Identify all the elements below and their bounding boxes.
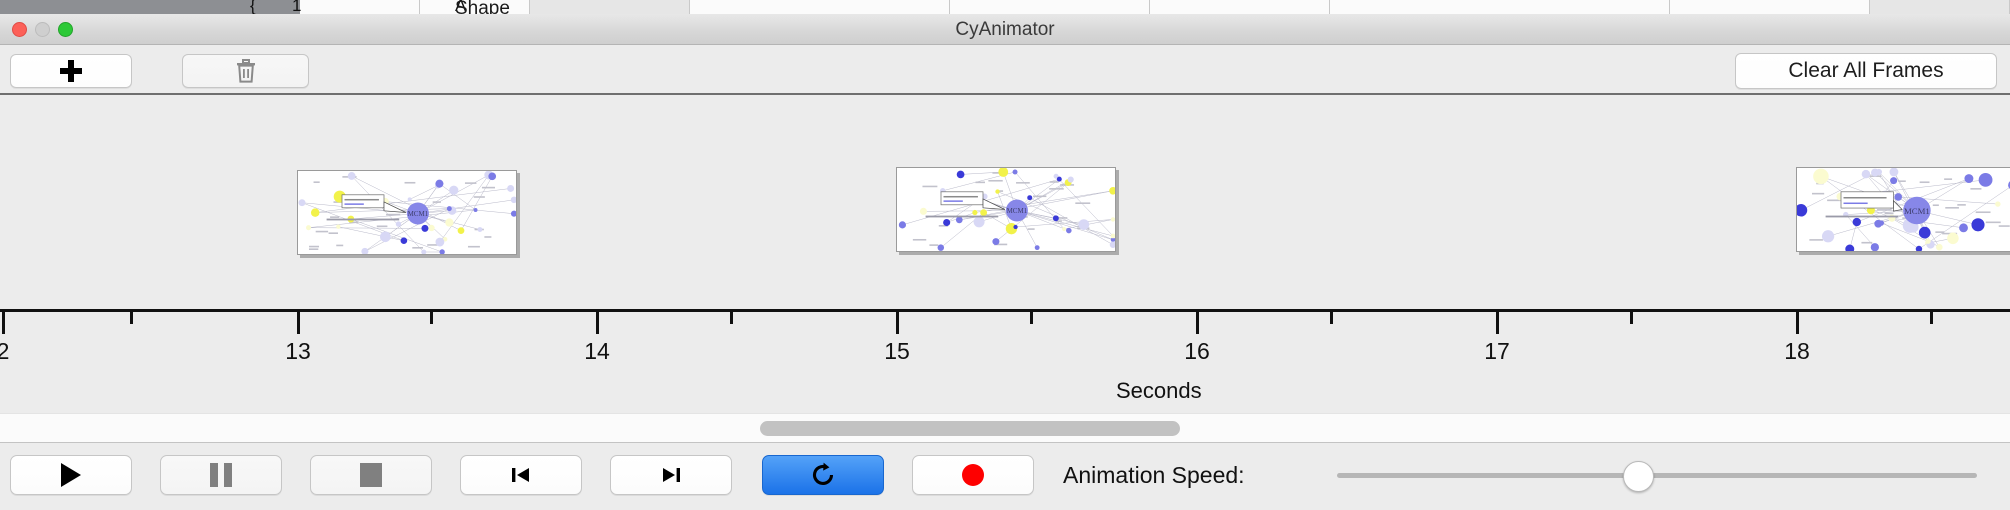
background-glyph: { bbox=[250, 0, 256, 14]
skip-forward-button[interactable] bbox=[610, 455, 732, 495]
axis-tick-label: 14 bbox=[584, 338, 610, 365]
background-window-label: Shape bbox=[455, 0, 510, 14]
background-cell bbox=[300, 0, 420, 14]
axis-tick-major bbox=[896, 312, 899, 334]
record-button[interactable] bbox=[912, 455, 1034, 495]
axis-tick-minor bbox=[130, 312, 133, 324]
animation-speed-label: Animation Speed: bbox=[1063, 455, 1245, 495]
svg-text:MCM1: MCM1 bbox=[1904, 206, 1930, 216]
pause-icon bbox=[210, 463, 232, 487]
animation-speed-slider-thumb[interactable] bbox=[1623, 461, 1654, 492]
axis-tick-minor bbox=[730, 312, 733, 324]
axis-tick-label: 18 bbox=[1784, 338, 1810, 365]
frames-area[interactable]: MCM1 MCM1 MCM1 bbox=[0, 95, 2010, 308]
axis-tick-minor bbox=[1030, 312, 1033, 324]
skip-back-button[interactable] bbox=[460, 455, 582, 495]
add-frame-button[interactable] bbox=[10, 54, 132, 88]
clear-all-frames-label: Clear All Frames bbox=[1788, 59, 1943, 83]
animation-speed-slider[interactable] bbox=[1337, 473, 1977, 478]
network-graph: MCM1 bbox=[1797, 168, 2010, 252]
timeline-scrollbar[interactable] bbox=[0, 413, 2010, 443]
axis-title: Seconds bbox=[1116, 378, 1202, 404]
axis-tick-minor bbox=[1930, 312, 1933, 324]
plus-icon bbox=[60, 60, 82, 82]
stop-icon bbox=[360, 463, 382, 487]
title-bar: CyAnimator bbox=[0, 14, 2010, 45]
frame-thumbnail[interactable]: MCM1 bbox=[896, 167, 1116, 252]
network-graph: MCM1 bbox=[298, 171, 517, 255]
background-glyph: 1 bbox=[292, 0, 301, 14]
play-button[interactable] bbox=[10, 455, 132, 495]
scrollbar-thumb[interactable] bbox=[760, 421, 1180, 436]
axis-tick-label: 16 bbox=[1184, 338, 1210, 365]
axis-tick-major bbox=[596, 312, 599, 334]
axis-tick-major bbox=[2, 312, 5, 334]
axis-tick-label: 17 bbox=[1484, 338, 1510, 365]
play-icon bbox=[61, 463, 81, 487]
frame-thumbnail[interactable]: MCM1 bbox=[1796, 167, 2010, 252]
network-graph: MCM1 bbox=[897, 168, 1116, 252]
background-cell bbox=[1150, 0, 1330, 14]
pause-button[interactable] bbox=[160, 455, 282, 495]
axis-tick-major bbox=[1796, 312, 1799, 334]
background-cell bbox=[1670, 0, 1870, 14]
frame-toolbar: Clear All Frames bbox=[0, 45, 2010, 95]
axis-tick-minor bbox=[1330, 312, 1333, 324]
skip-back-icon bbox=[509, 463, 533, 487]
playback-controls: Animation Speed: bbox=[0, 444, 2010, 510]
axis-tick-label: 2 bbox=[0, 338, 9, 365]
background-cell bbox=[690, 0, 950, 14]
skip-forward-icon bbox=[659, 463, 683, 487]
svg-text:MCM1: MCM1 bbox=[408, 210, 429, 218]
record-icon bbox=[960, 462, 986, 488]
axis-tick-major bbox=[1196, 312, 1199, 334]
timeline-axis: 2131415161718 Seconds bbox=[0, 300, 2010, 410]
clear-all-frames-button[interactable]: Clear All Frames bbox=[1735, 53, 1997, 89]
background-cell bbox=[950, 0, 1150, 14]
window-title: CyAnimator bbox=[0, 14, 2010, 45]
svg-text:MCM1: MCM1 bbox=[1007, 207, 1028, 215]
background-cell bbox=[530, 0, 690, 14]
background-cell bbox=[1870, 0, 2010, 14]
background-cell bbox=[1330, 0, 1670, 14]
loop-icon bbox=[809, 461, 837, 489]
cyanimator-window: { 1 A Shape CyAnimator Clear All Fra bbox=[0, 0, 2010, 510]
background-window-strip: { 1 A Shape bbox=[0, 0, 2010, 14]
stop-button[interactable] bbox=[310, 455, 432, 495]
axis-line bbox=[0, 309, 2010, 312]
axis-tick-label: 15 bbox=[884, 338, 910, 365]
axis-tick-major bbox=[1496, 312, 1499, 334]
axis-tick-label: 13 bbox=[285, 338, 311, 365]
axis-tick-minor bbox=[430, 312, 433, 324]
axis-tick-major bbox=[297, 312, 300, 334]
frame-thumbnail[interactable]: MCM1 bbox=[297, 170, 517, 255]
delete-frame-button[interactable] bbox=[182, 54, 309, 88]
trash-icon bbox=[236, 59, 256, 83]
axis-tick-minor bbox=[1630, 312, 1633, 324]
loop-button[interactable] bbox=[762, 455, 884, 495]
